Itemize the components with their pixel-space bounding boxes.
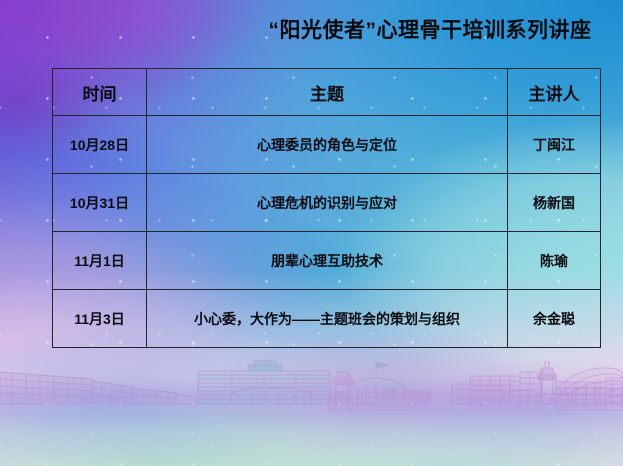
cell-date: 10月31日 — [53, 174, 147, 232]
cell-speaker: 余金聪 — [508, 290, 601, 348]
lecture-schedule-table: 时间 主题 主讲人 10月28日 心理委员的角色与定位 丁闽江 10月31日 心… — [52, 68, 601, 348]
cell-topic: 小心委，大作为——主题班会的策划与组织 — [147, 290, 508, 348]
cell-topic: 心理危机的识别与应对 — [147, 174, 508, 232]
table-row: 11月3日 小心委，大作为——主题班会的策划与组织 余金聪 — [53, 290, 601, 348]
column-header-speaker: 主讲人 — [508, 69, 601, 116]
cell-speaker: 杨新国 — [508, 174, 601, 232]
stadium-silhouette — [0, 350, 623, 466]
column-header-date: 时间 — [53, 69, 147, 116]
column-header-topic: 主题 — [147, 69, 508, 116]
cell-date: 10月28日 — [53, 116, 147, 174]
table-header-row: 时间 主题 主讲人 — [53, 69, 601, 116]
table-row: 10月31日 心理危机的识别与应对 杨新国 — [53, 174, 601, 232]
table-row: 10月28日 心理委员的角色与定位 丁闽江 — [53, 116, 601, 174]
page-title: “阳光使者”心理骨干培训系列讲座 — [250, 12, 610, 46]
table-row: 11月1日 朋辈心理互助技术 陈瑜 — [53, 232, 601, 290]
cell-date: 11月3日 — [53, 290, 147, 348]
cell-topic: 朋辈心理互助技术 — [147, 232, 508, 290]
cell-date: 11月1日 — [53, 232, 147, 290]
slide-canvas: “阳光使者”心理骨干培训系列讲座 时间 主题 主讲人 10月28日 心理委员的角… — [0, 0, 623, 466]
cell-speaker: 陈瑜 — [508, 232, 601, 290]
cell-speaker: 丁闽江 — [508, 116, 601, 174]
cell-topic: 心理委员的角色与定位 — [147, 116, 508, 174]
